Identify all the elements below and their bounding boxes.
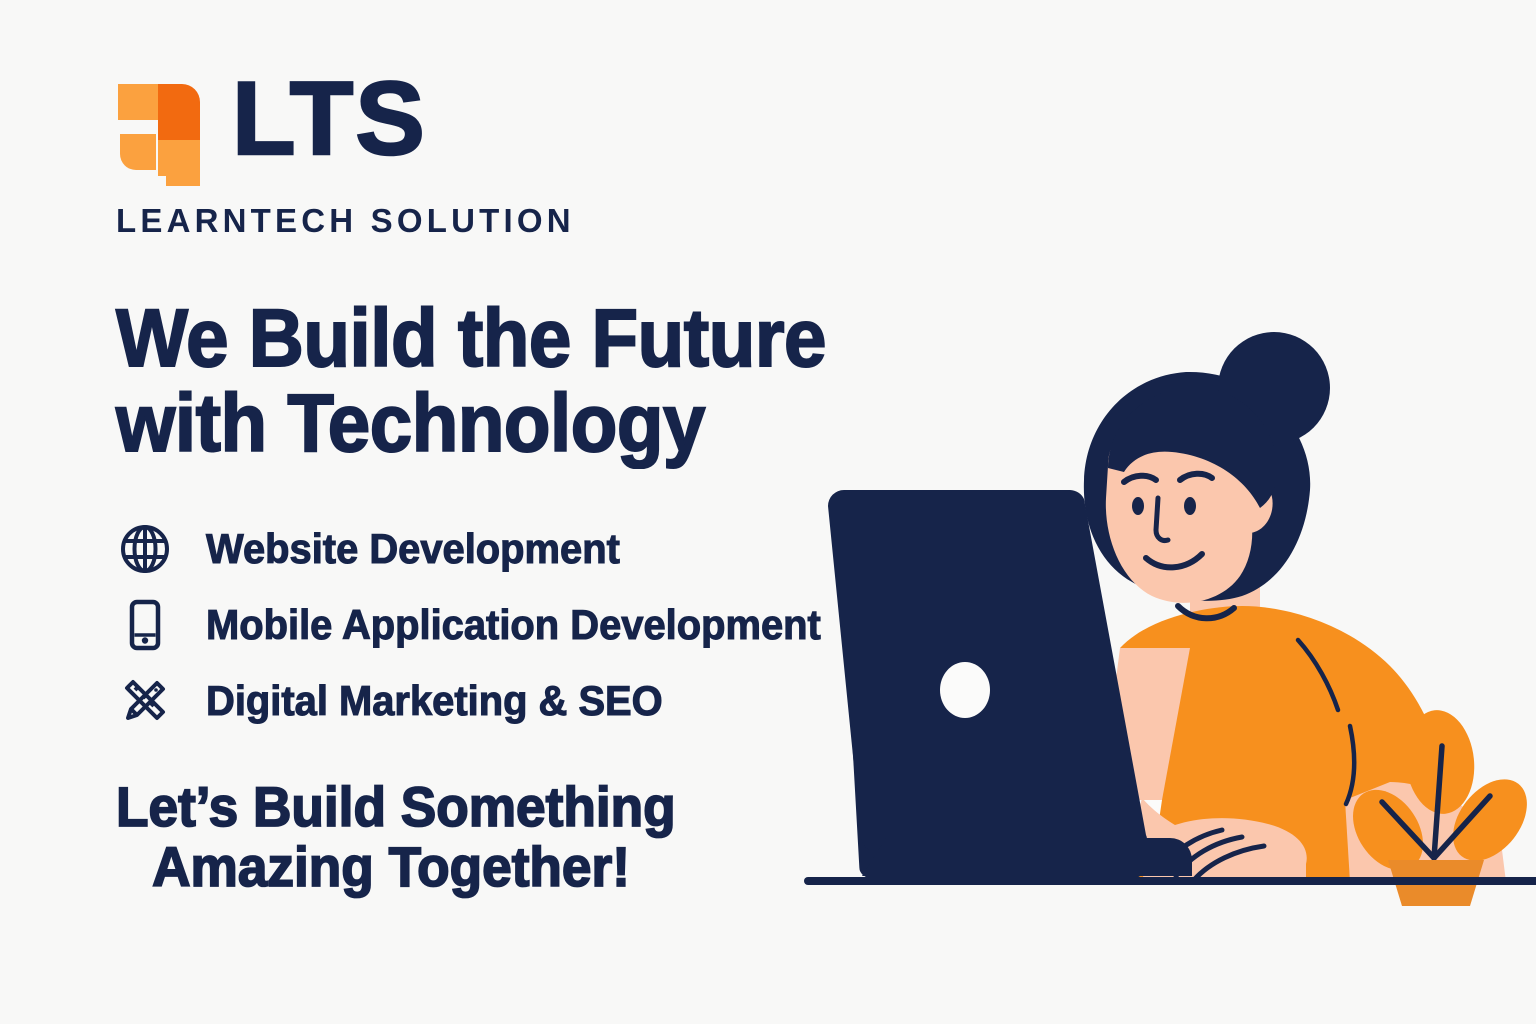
lts-logo-mark-icon	[116, 78, 204, 186]
promotional-banner: LTS LEARNTECH SOLUTION We Build the Futu…	[0, 0, 1536, 1024]
pencil-ruler-icon	[116, 672, 174, 730]
brand-logo[interactable]: LTS LEARNTECH SOLUTION	[116, 78, 1076, 248]
logo-row: LTS	[116, 78, 1076, 190]
logo-tagline: LEARNTECH SOLUTION	[116, 202, 1076, 240]
laptop-logo-dot	[940, 662, 990, 718]
smartphone-icon	[116, 596, 174, 654]
logo-wordmark: LTS	[232, 72, 427, 168]
service-label: Digital Marketing & SEO	[206, 677, 663, 725]
woman-working-on-laptop-illustration	[790, 330, 1536, 910]
laptop-base	[862, 838, 1192, 876]
service-label: Website Development	[206, 525, 620, 573]
service-label: Mobile Application Development	[206, 601, 821, 649]
globe-icon	[116, 520, 174, 578]
